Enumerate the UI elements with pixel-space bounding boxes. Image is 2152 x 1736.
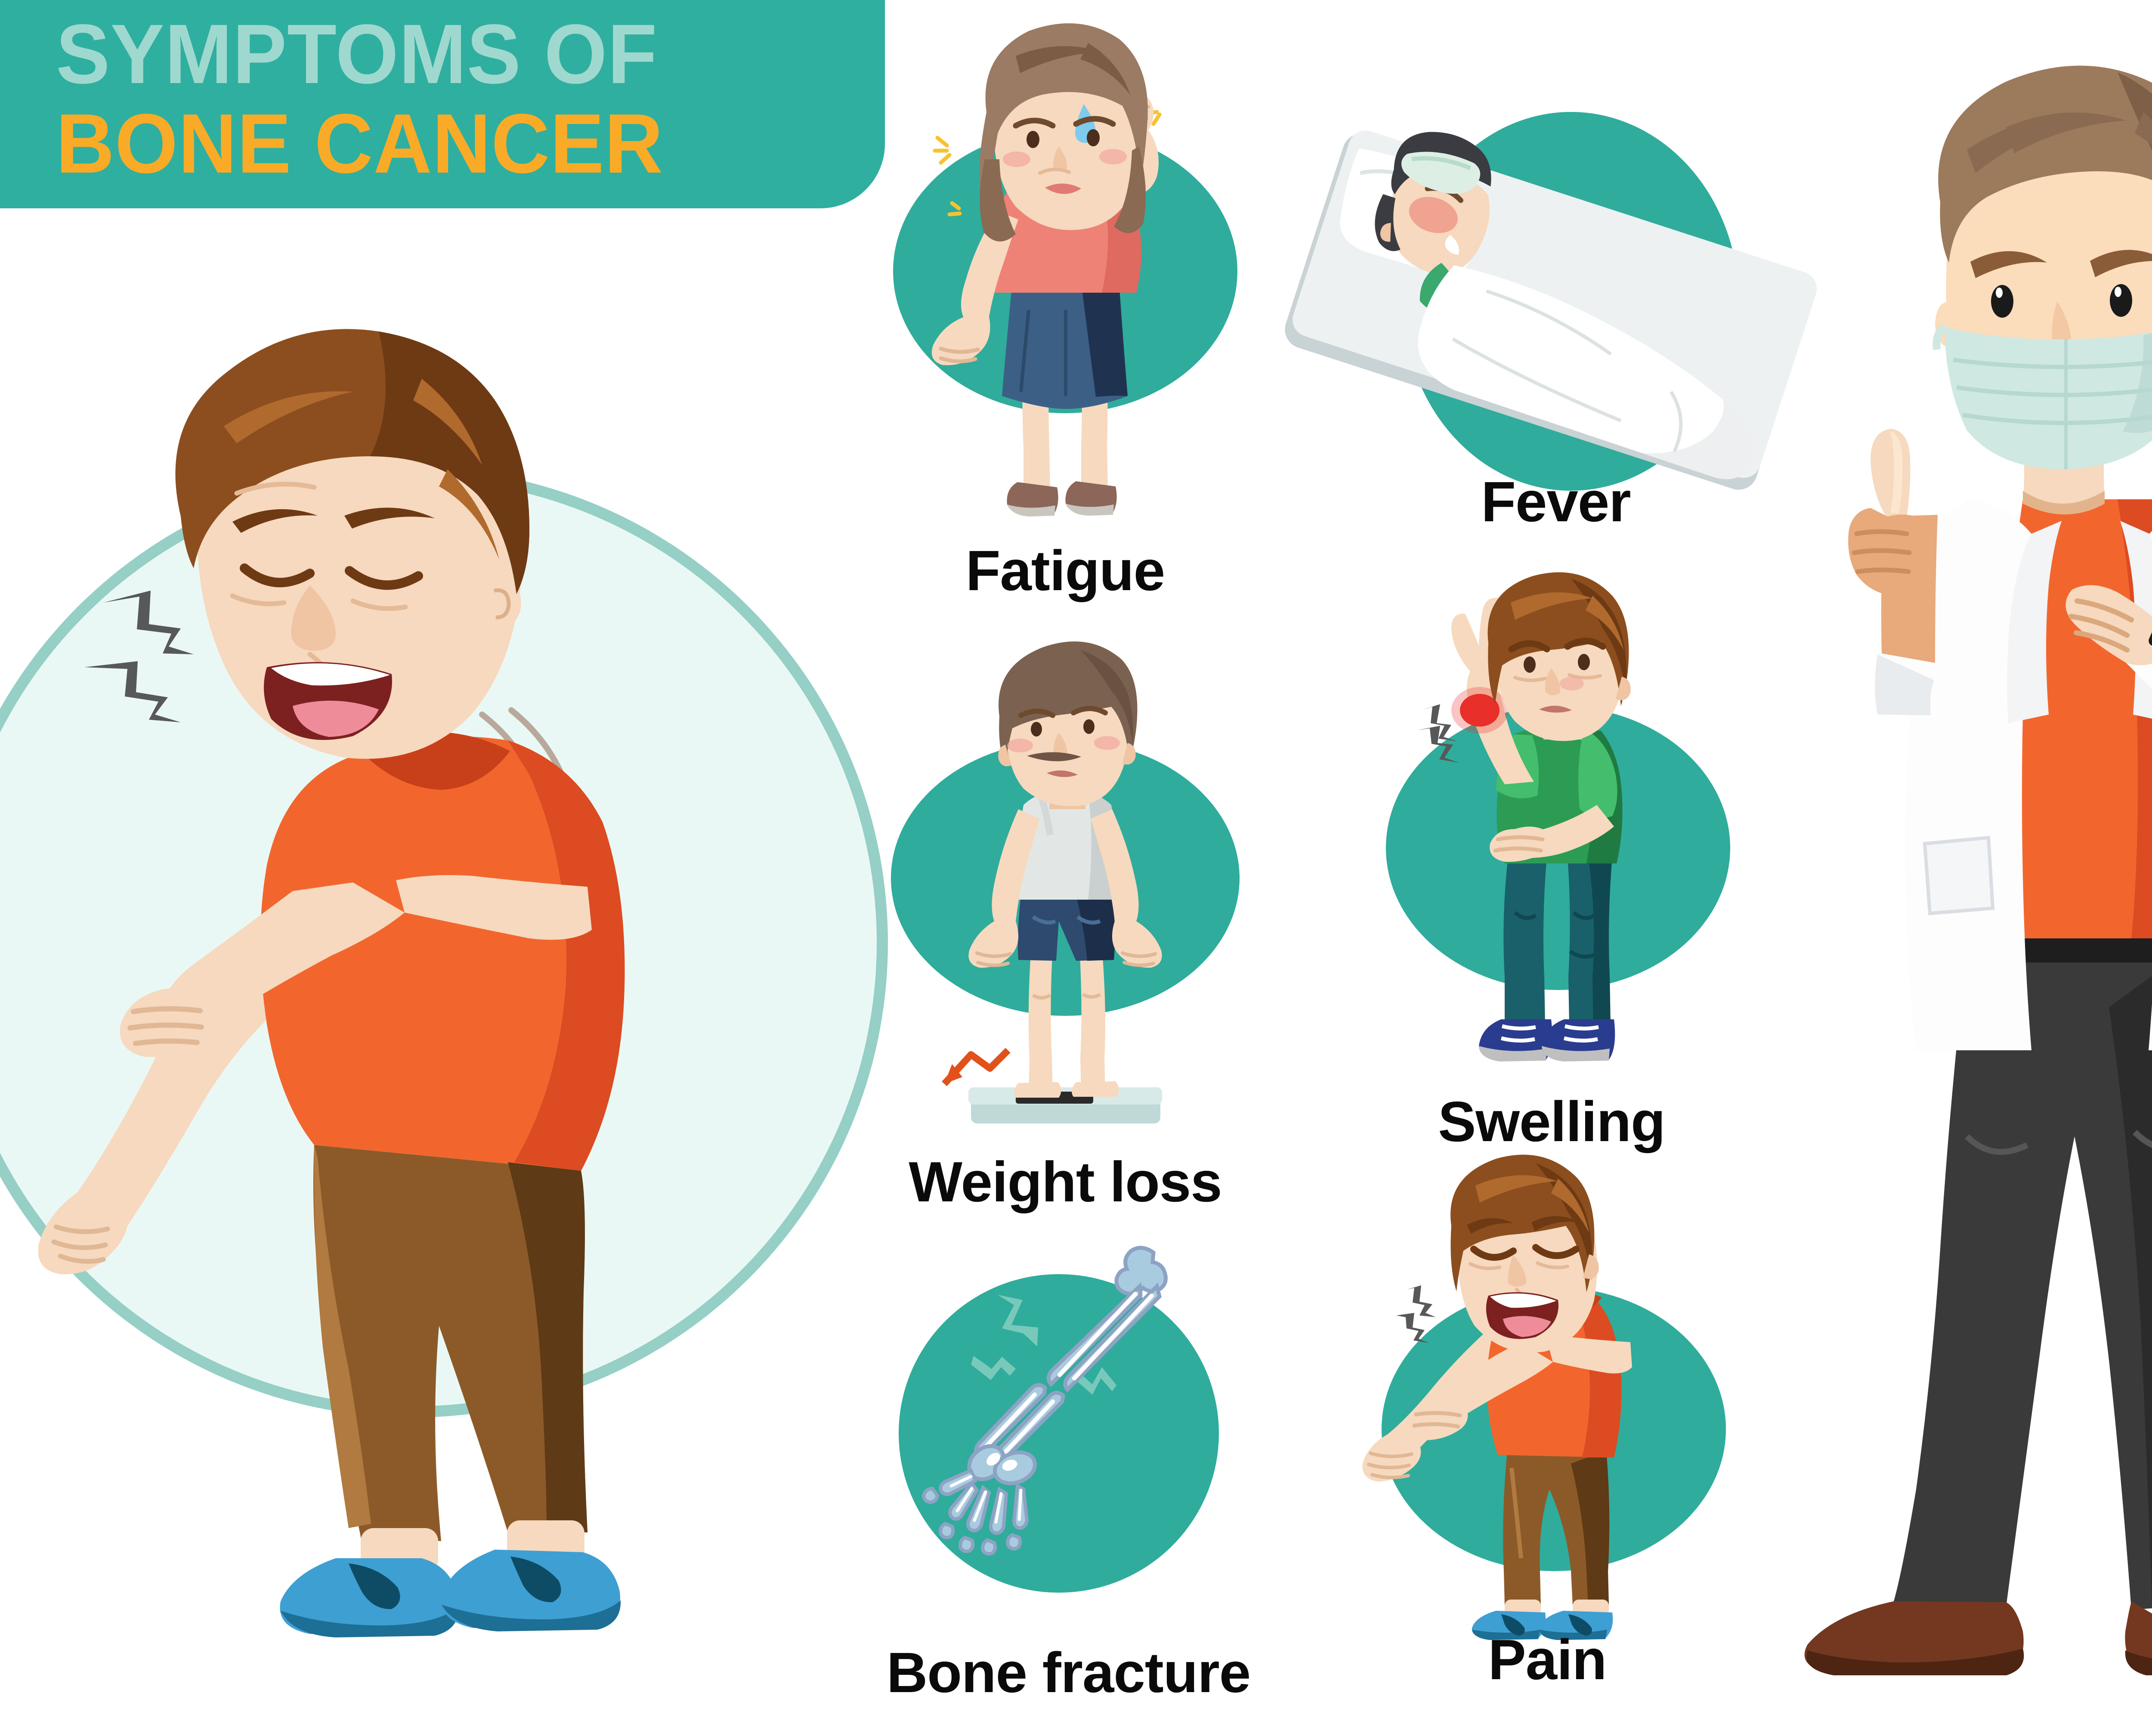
boy-swollen-arm-icon	[1373, 572, 1730, 1093]
symptom-label-bone-fracture: Bone fracture	[887, 1644, 1244, 1701]
right-cheek	[1099, 149, 1127, 164]
left-shoe	[1805, 1601, 2024, 1675]
weighing-scale	[968, 1087, 1162, 1123]
boy-on-scale-icon	[887, 620, 1244, 1149]
title-line-1: SYMPTOMS OF	[56, 12, 658, 96]
left-pant-leg	[1503, 857, 1547, 1025]
left-cheek	[1003, 152, 1030, 167]
right-cheek	[1094, 736, 1120, 750]
symptom-label-weight-loss: Weight loss	[887, 1154, 1244, 1210]
doctor-illustration	[1765, 60, 2152, 1722]
symptom-card-pain: Pain	[1369, 1171, 1726, 1722]
boy-arm-pain-icon	[1369, 1171, 1726, 1640]
right-leg	[1079, 947, 1105, 1092]
left-shoe	[280, 1558, 459, 1637]
symptom-card-bone-fracture: Bone fracture	[887, 1240, 1244, 1722]
left-eye	[1031, 722, 1042, 736]
symptom-label-fatigue: Fatigue	[887, 542, 1244, 599]
right-sneaker	[1542, 1019, 1615, 1061]
surgical-mask-icon	[1936, 324, 2152, 469]
right-shoe	[441, 1550, 621, 1631]
left-sneaker	[1479, 1019, 1552, 1061]
symptom-card-swelling: Swelling	[1373, 572, 1730, 1184]
right-eye	[1083, 719, 1095, 734]
teal-backdrop	[899, 1274, 1219, 1593]
left-leg	[1029, 947, 1053, 1092]
left-eye	[1524, 656, 1536, 673]
left-cheek	[1007, 739, 1033, 752]
right-shoe	[2125, 1601, 2152, 1675]
pocket-left	[1925, 838, 1993, 913]
symptom-label-pain: Pain	[1369, 1631, 1726, 1688]
title-banner: SYMPTOMS OF BONE CANCER	[0, 0, 885, 208]
cheek	[1560, 677, 1584, 690]
symptom-card-fatigue: Fatigue	[887, 9, 1244, 654]
right-eye	[1578, 654, 1590, 670]
girl-headache-icon	[887, 9, 1244, 538]
symptom-label-swelling: Swelling	[1373, 1093, 1730, 1150]
fractured-arm-xray-icon	[887, 1240, 1244, 1627]
right-foot	[1072, 1081, 1119, 1097]
pointing-hand	[1848, 429, 1936, 596]
belt	[2009, 938, 2152, 962]
title-line-2: BONE CANCER	[56, 102, 663, 186]
main-patient-illustration	[52, 327, 809, 1532]
symptom-card-weight-loss: Weight loss	[887, 620, 1244, 1266]
left-foot	[1014, 1082, 1061, 1098]
